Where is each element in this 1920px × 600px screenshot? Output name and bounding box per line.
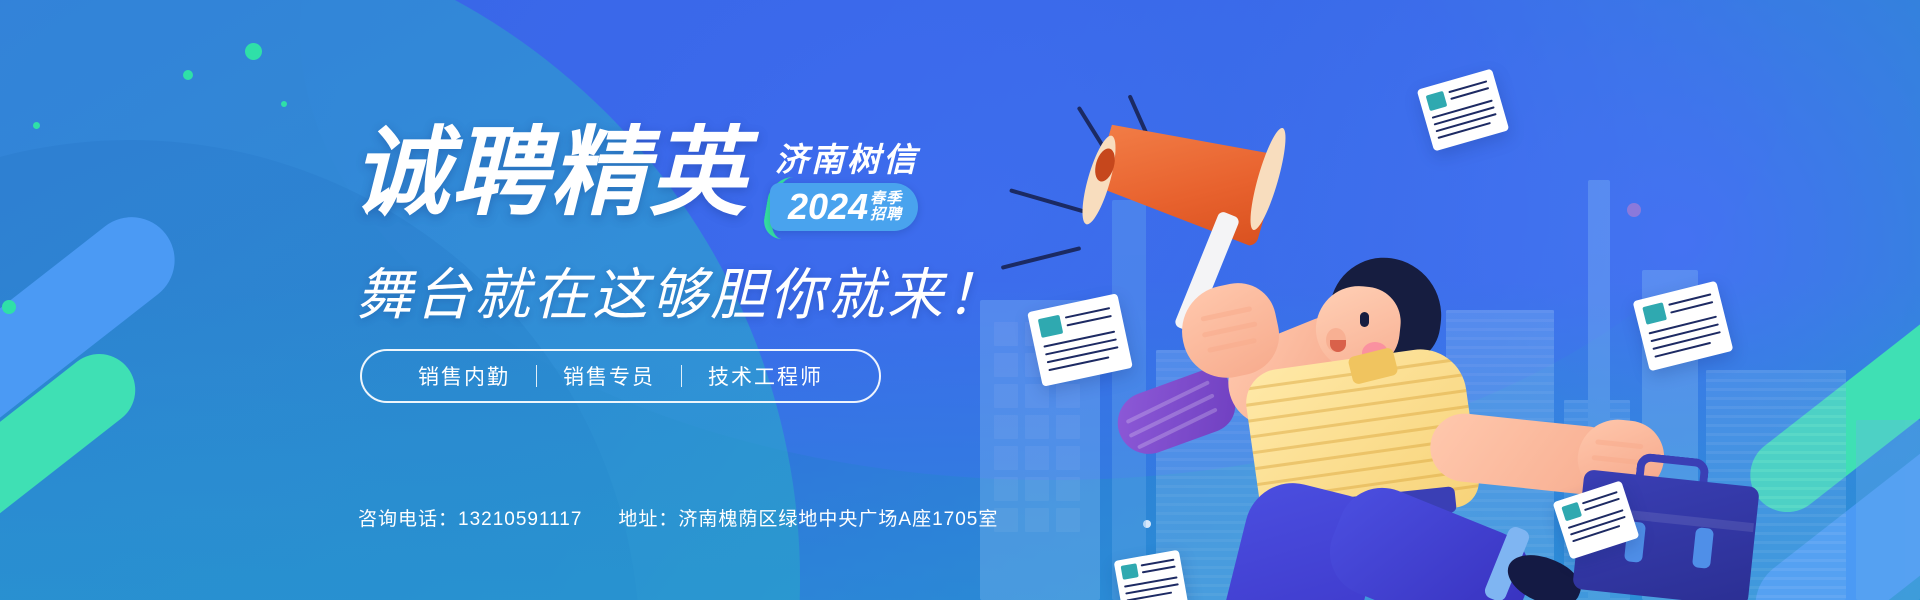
eye — [1360, 312, 1369, 327]
recruitment-banner: 诚聘精英 济南树信 2024 春季 招聘 舞台就在这够胆你就来！ 销售内勤 销售… — [0, 0, 1920, 600]
contact-address: 地址：济南槐荫区绿地中央广场A座1705室 — [618, 504, 998, 531]
page-subtitle: 舞台就在这够胆你就来！ — [356, 250, 1005, 331]
decor-dot — [2, 300, 16, 314]
job-position-3[interactable]: 技术工程师 — [682, 361, 849, 391]
contact-info: 咨询电话：13210591117 地址：济南槐荫区绿地中央广场A座1705室 — [358, 504, 998, 531]
brand-name: 济南树信 — [775, 133, 919, 181]
job-position-1[interactable]: 销售内勤 — [392, 361, 536, 391]
recruitment-badge: 2024 春季 招聘 — [770, 183, 918, 231]
decor-dot — [183, 70, 193, 80]
decor-dot — [281, 101, 287, 107]
badge-season: 春季 — [870, 191, 902, 207]
building — [1856, 420, 1920, 600]
decor-dot — [33, 122, 40, 129]
page-title: 诚聘精英 — [352, 124, 748, 221]
decor-dot — [245, 43, 262, 60]
contact-phone: 咨询电话：13210591117 — [358, 504, 582, 531]
badge-action: 招聘 — [870, 207, 902, 223]
sleeve-purple — [1109, 363, 1243, 462]
job-positions-pill: 销售内勤 销售专员 技术工程师 — [360, 349, 881, 403]
badge-year: 2024 — [788, 189, 868, 225]
job-position-2[interactable]: 销售专员 — [537, 361, 681, 391]
